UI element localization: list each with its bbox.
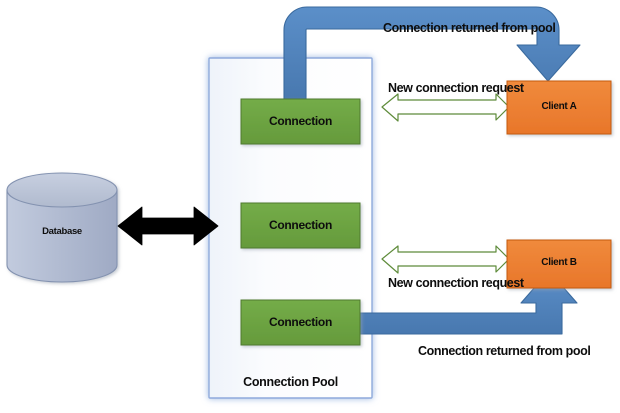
connection-pool-title: Connection Pool	[209, 376, 372, 389]
edge-label-returned-bottom: Connection returned from pool	[418, 345, 590, 358]
client-a-label: Client A	[507, 102, 611, 112]
diagram-canvas: Database Connection Connection Connectio…	[0, 0, 620, 413]
database-label: Database	[7, 227, 117, 237]
connection-label-3: Connection	[241, 316, 360, 328]
database-pool-bidirectional-arrow	[118, 207, 218, 245]
edge-label-request-top: New connection request	[388, 82, 524, 95]
new-connection-request-bottom-arrow	[382, 246, 509, 273]
connection-label-1: Connection	[241, 115, 360, 127]
edge-label-request-bottom: New connection request	[388, 277, 524, 290]
edge-label-returned-top: Connection returned from pool	[383, 22, 555, 35]
client-b-label: Client B	[507, 258, 611, 268]
connection-label-2: Connection	[241, 219, 360, 231]
new-connection-request-top-arrow	[382, 94, 509, 121]
